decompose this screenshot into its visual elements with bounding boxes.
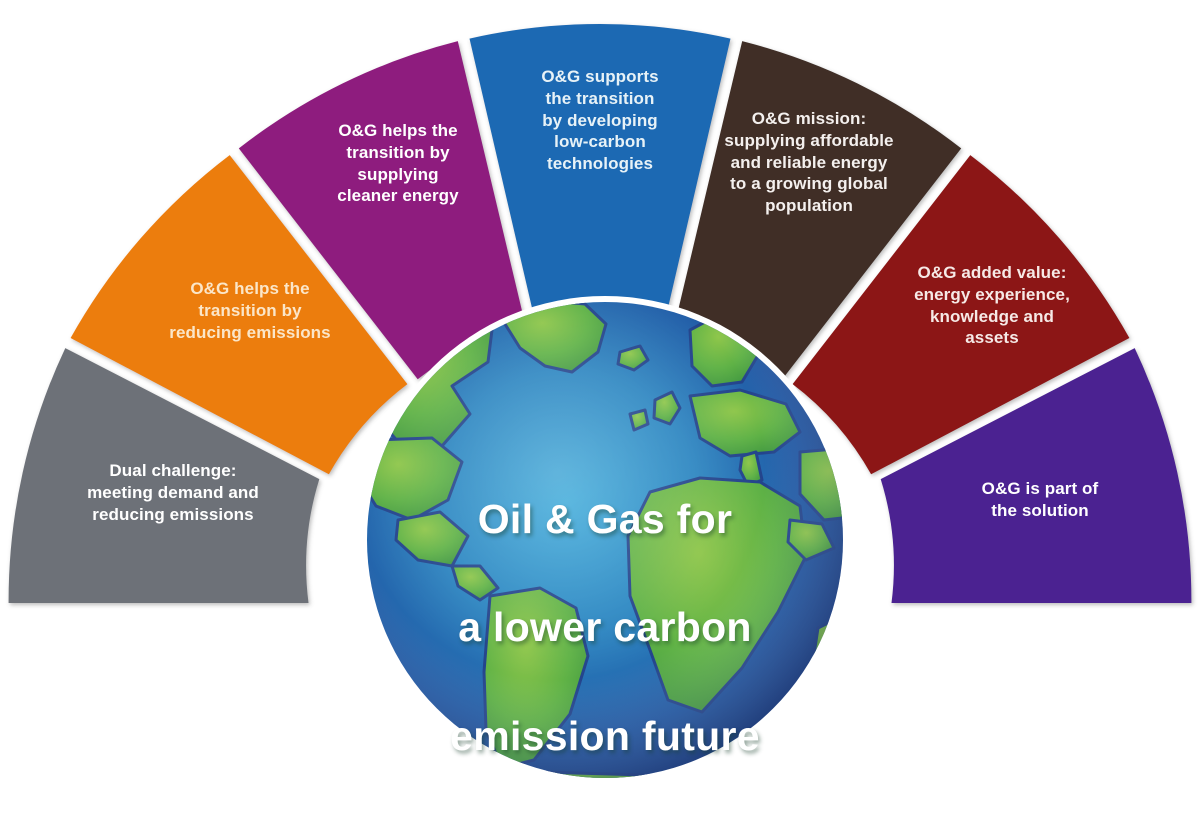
center-title-line-3: emission future	[383, 709, 827, 763]
infographic-canvas: Dual challenge: meeting demand and reduc…	[0, 0, 1200, 792]
center-title-line-2: a lower carbon	[383, 600, 827, 654]
center-title-line-1: Oil & Gas for	[383, 492, 827, 546]
center-title: Oil & Gas for a lower carbon emission fu…	[383, 438, 827, 817]
